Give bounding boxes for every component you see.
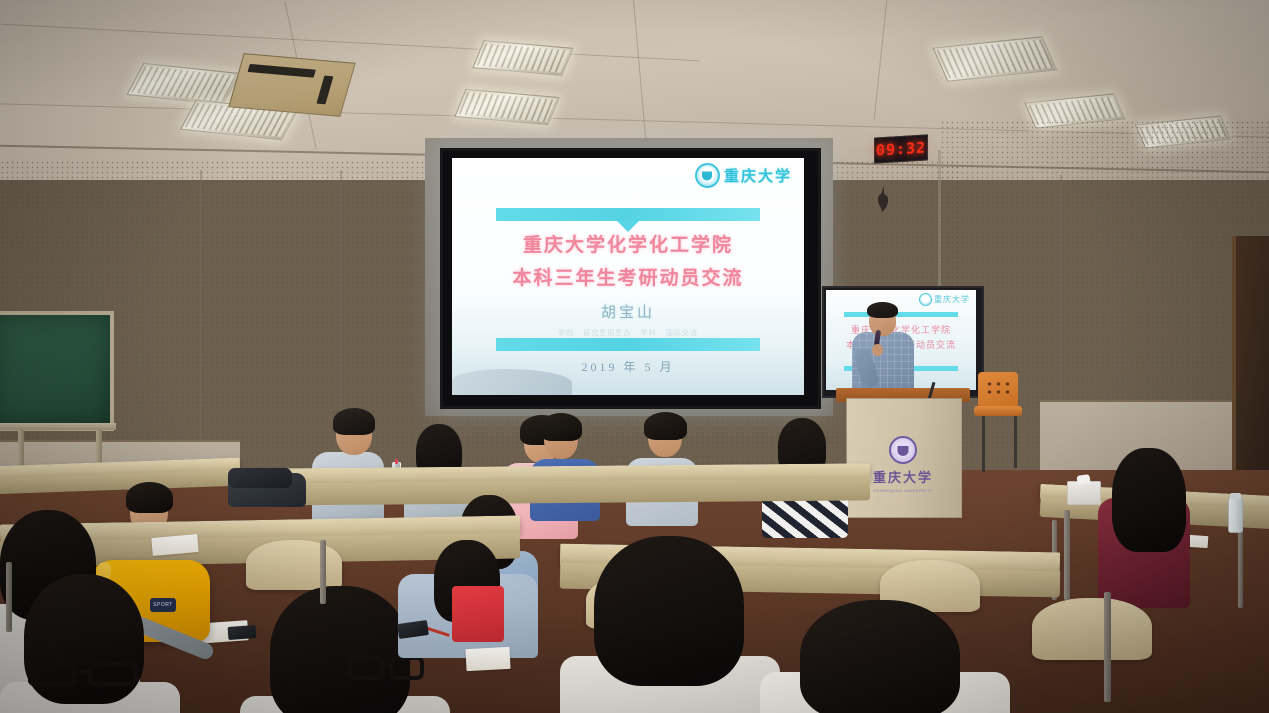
orange-chair-back[interactable] (978, 372, 1018, 408)
chair-back[interactable] (1032, 598, 1152, 660)
notebook-open[interactable] (465, 647, 510, 671)
university-crest-icon-podium (889, 436, 917, 464)
orange-chair-seat[interactable] (974, 406, 1022, 416)
ceiling-light-4 (454, 89, 559, 125)
chalk-tray (0, 423, 116, 430)
podium-university-logo: 重庆大学 CHONGQING UNIVERSITY (868, 436, 938, 493)
ceiling-ac-diffuser (228, 53, 355, 117)
ceiling-light-1 (126, 63, 240, 105)
glasses-icon (28, 656, 140, 690)
ceiling-light-5 (932, 36, 1057, 82)
slide-accent-bar-top (496, 208, 760, 221)
podium-logo-text-en: CHONGQING UNIVERSITY (868, 488, 938, 493)
slide-background-graphic (452, 369, 572, 395)
red-garment (452, 586, 504, 642)
led-wall-clock: 09:32 (874, 134, 928, 163)
slide-accent-bar-bottom (496, 338, 760, 351)
dark-bag-2[interactable] (228, 468, 292, 488)
projected-slide: 重庆大学 重庆大学化学化工学院 本科三年生考研动员交流 胡宝山 学院 · 研究生… (452, 158, 804, 395)
tissue-box[interactable] (1067, 481, 1101, 505)
thermos-bottle[interactable] (1228, 497, 1243, 533)
clock-time: 09:32 (876, 138, 926, 159)
backpack-logo-patch: SPORT (150, 598, 176, 612)
secondary-display-logo-text: 重庆大学 (934, 294, 970, 305)
phone-2[interactable] (228, 625, 257, 640)
speaker-hand (872, 344, 883, 356)
secondary-display-logo: 重庆大学 (919, 293, 970, 306)
chair-back[interactable] (246, 540, 342, 590)
slide-presenter-name: 胡宝山 (452, 301, 804, 322)
slide-title-line-1: 重庆大学化学化工学院 (452, 230, 804, 257)
slide-subtitle-small: 学院 · 研究生招生办 · 学科 · 国际交流 (452, 328, 804, 338)
ceiling-light-3 (472, 40, 573, 76)
slide-university-logo: 重庆大学 (695, 163, 792, 188)
speaker-hair (867, 302, 898, 318)
chalkboard (0, 311, 114, 431)
lecture-hall-photo: 09:32 重庆大学 重庆大学化学化工学院 本科三年生考研动员交流 胡宝山 学院… (0, 0, 1269, 713)
university-crest-icon (695, 163, 720, 188)
slide-title-line-2: 本科三年生考研动员交流 (452, 263, 804, 290)
slide-logo-text: 重庆大学 (724, 165, 792, 186)
university-crest-icon-small (919, 293, 932, 306)
secondary-accent-top (844, 312, 958, 317)
podium-logo-text: 重庆大学 (868, 467, 938, 486)
wall-microphone-icon (876, 186, 892, 212)
